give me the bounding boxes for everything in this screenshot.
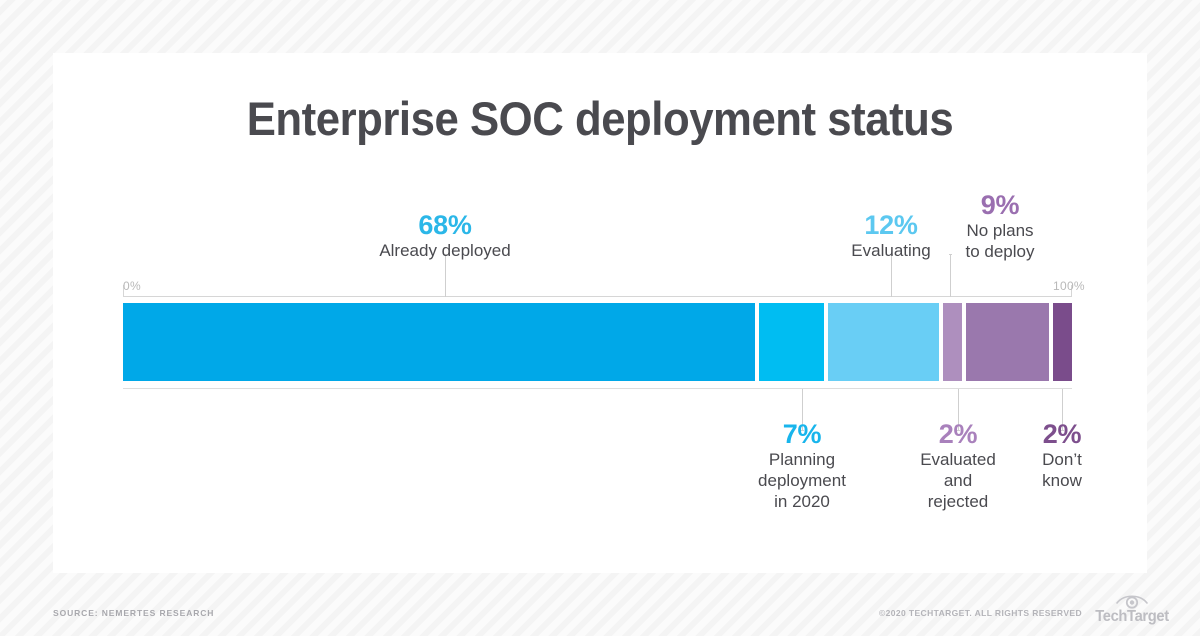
bar-segment-planning-deployment[interactable] <box>759 303 824 381</box>
axis-tick-100: 100% <box>1053 279 1085 293</box>
callout-label-planning: Planning deployment in 2020 <box>732 450 872 512</box>
bar-segment-evaluating[interactable] <box>828 303 939 381</box>
callout-already-deployed: 68% Already deployed <box>325 211 565 262</box>
plot-area: 0% 100% <box>53 53 1147 573</box>
callout-evaluated-and-rejected: 2% Evaluated and rejected <box>893 420 1023 513</box>
callout-dont-know: 2% Don’t know <box>1012 420 1112 492</box>
callout-label-line-3: rejected <box>928 492 988 511</box>
callout-label-line-3: in 2020 <box>774 492 830 511</box>
callout-label-line-2: and <box>944 471 972 490</box>
eye-icon <box>1115 592 1149 609</box>
chart-canvas: Enterprise SOC deployment status 0% 100% <box>0 0 1200 636</box>
callout-label-line-1: Don’t <box>1042 450 1082 469</box>
callout-value-already-deployed: 68% <box>325 211 565 239</box>
callout-label-line-2: know <box>1042 471 1082 490</box>
techtarget-wordmark: TechTarget <box>1090 608 1175 626</box>
callout-label-dont-know: Don’t know <box>1012 450 1112 491</box>
callout-label-line-1: Evaluating <box>851 241 930 260</box>
callout-label-already-deployed: Already deployed <box>325 241 565 262</box>
callout-label-no-plans: No plans to deploy <box>930 221 1070 262</box>
copyright-notice: ©2020 TECHTARGET. ALL RIGHTS RESERVED <box>879 608 1082 618</box>
callout-value-rejected: 2% <box>893 420 1023 448</box>
bar-segment-no-plans-to-deploy[interactable] <box>966 303 1050 381</box>
axis-tick-0: 0% <box>123 279 141 293</box>
callout-label-line-2: deployment <box>758 471 846 490</box>
callout-label-line-1: Planning <box>769 450 835 469</box>
bar-segment-dont-know[interactable] <box>1053 303 1072 381</box>
bar-segment-evaluated-and-rejected[interactable] <box>943 303 962 381</box>
axis-line-bottom <box>123 388 1072 389</box>
callout-no-plans-to-deploy: 9% No plans to deploy <box>930 191 1070 263</box>
callout-value-no-plans: 9% <box>930 191 1070 219</box>
callout-label-line-1: No plans <box>966 221 1033 240</box>
callout-label-line-1: Already deployed <box>379 241 510 260</box>
source-credit: SOURCE: NEMERTES RESEARCH <box>53 608 214 618</box>
chart-card: Enterprise SOC deployment status 0% 100% <box>53 53 1147 573</box>
callout-planning-deployment: 7% Planning deployment in 2020 <box>732 420 872 513</box>
stacked-bar <box>123 303 1072 381</box>
axis-line-top <box>123 296 1072 297</box>
callout-label-line-2: to deploy <box>966 242 1035 261</box>
callout-value-planning: 7% <box>732 420 872 448</box>
callout-label-rejected: Evaluated and rejected <box>893 450 1023 512</box>
bar-segment-already-deployed[interactable] <box>123 303 755 381</box>
techtarget-logo: TechTarget <box>1086 592 1178 630</box>
callout-label-line-1: Evaluated <box>920 450 996 469</box>
callout-value-dont-know: 2% <box>1012 420 1112 448</box>
